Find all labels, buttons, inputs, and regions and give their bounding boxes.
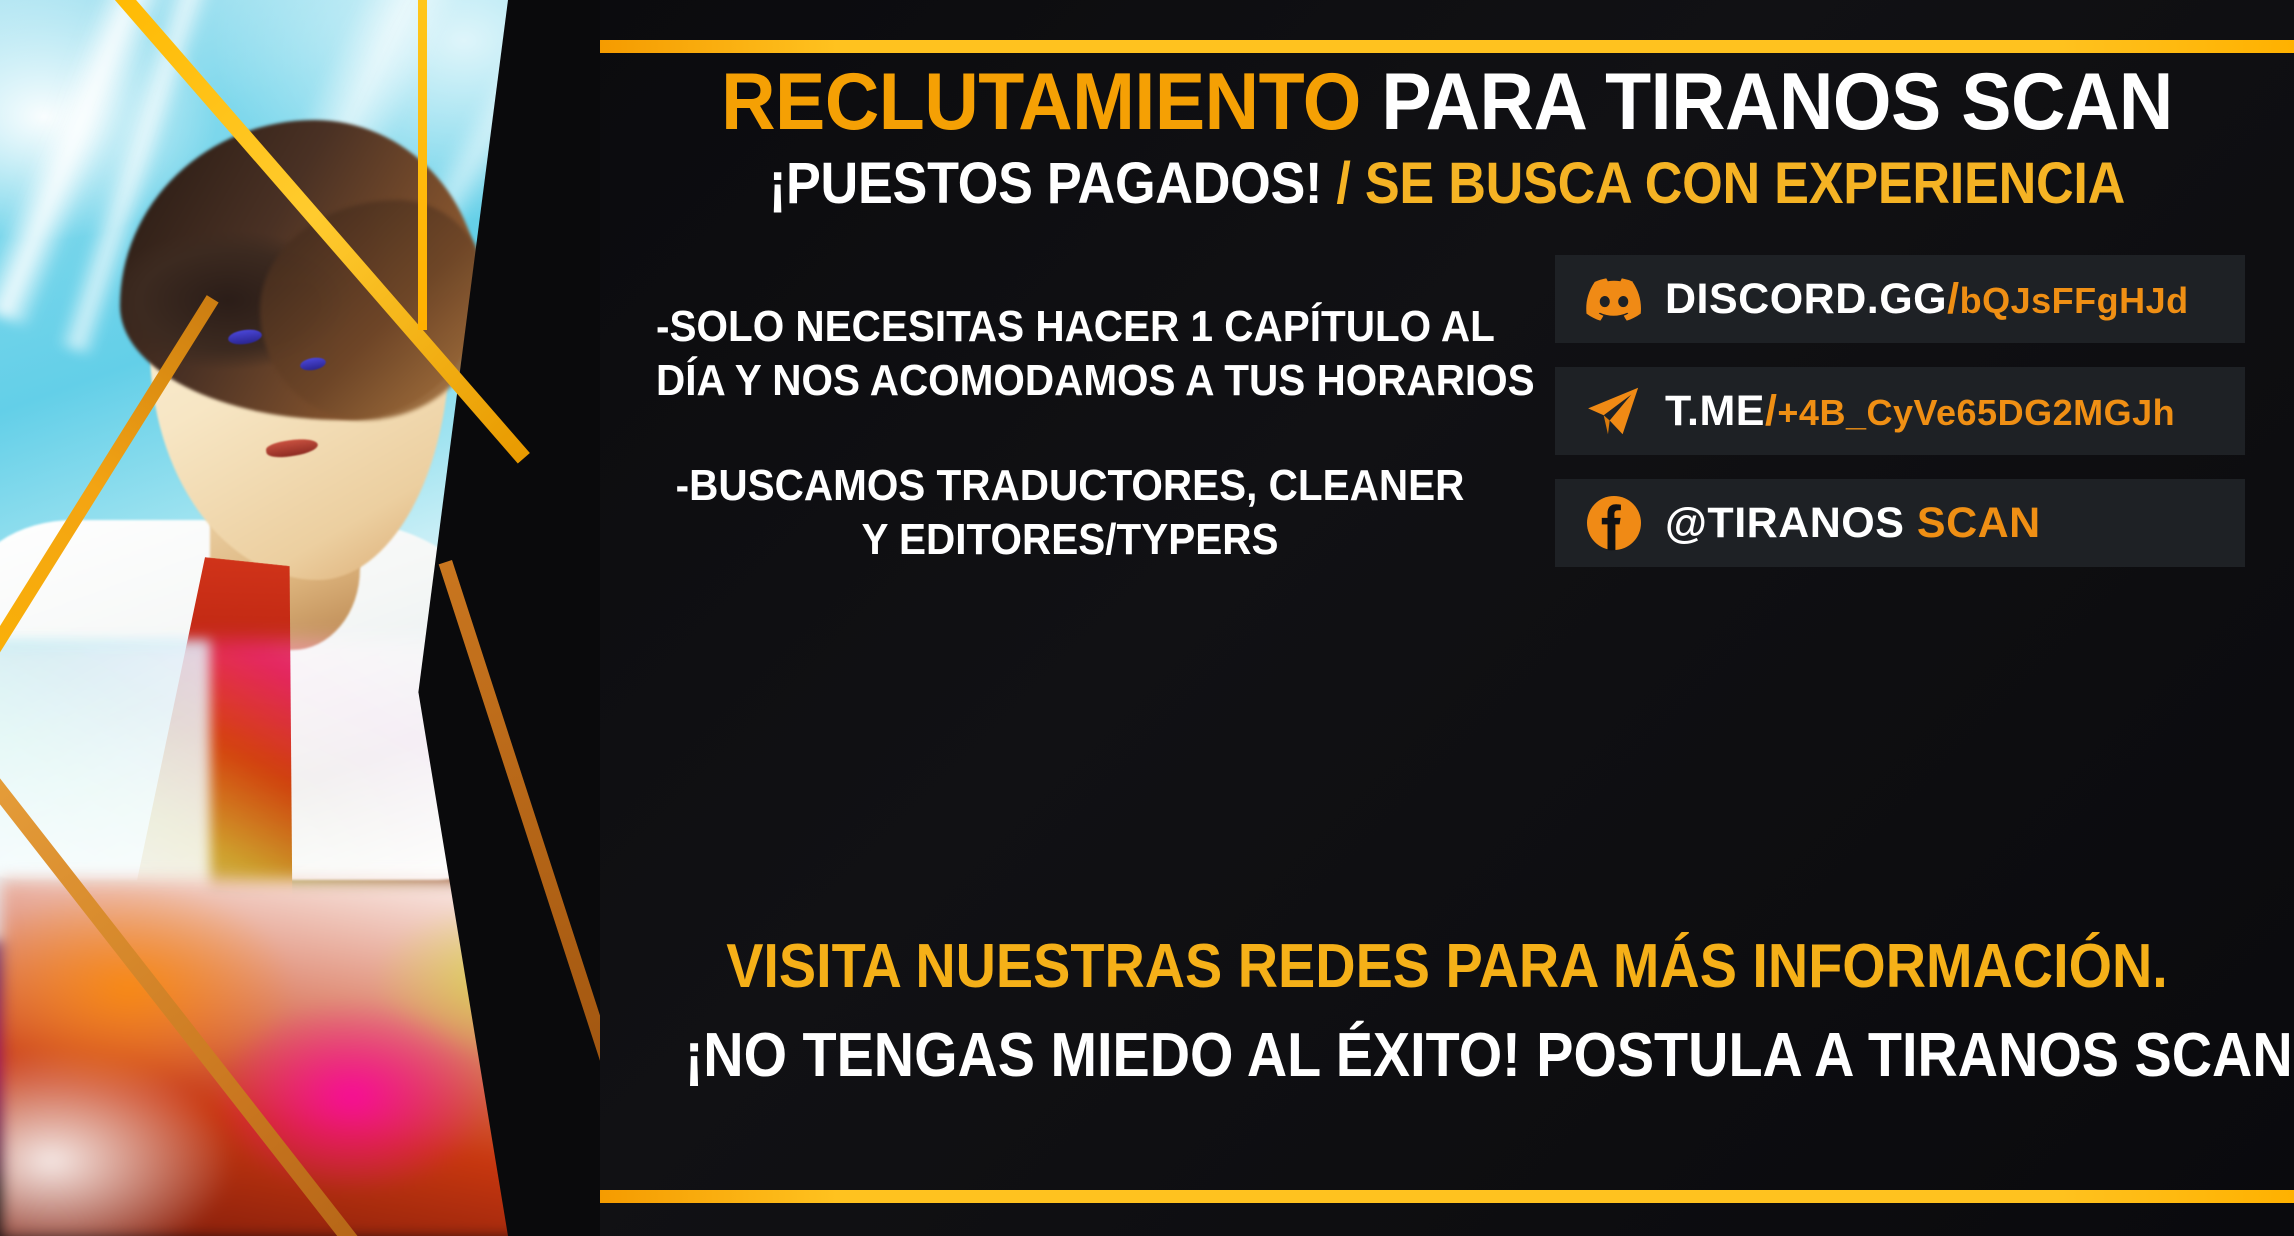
- telegram-invite-code: +4B_CyVe65DG2MGJh: [1777, 392, 2175, 433]
- telegram-separator: /: [1765, 387, 1777, 435]
- requirement-line: Y EDITORES/TYPERS: [656, 513, 1484, 567]
- headline-highlight: RECLUTAMIENTO: [721, 57, 1361, 147]
- gold-bar-top: [600, 40, 2294, 53]
- artwork-panel: [0, 0, 640, 1236]
- requirement-line: -SOLO NECESITAS HACER 1 CAPÍTULO AL: [656, 300, 1484, 354]
- headline: RECLUTAMIENTO PARA TIRANOS SCAN: [659, 62, 2234, 143]
- subheadline-experience: SE BUSCA CON EXPERIENCIA: [1365, 151, 2125, 216]
- requirement-item: -BUSCAMOS TRADUCTORES, CLEANER Y EDITORE…: [656, 459, 1484, 566]
- subheadline-paid: ¡PUESTOS PAGADOS!: [769, 151, 1322, 216]
- cta-line-1: VISITA NUESTRAS REDES PARA MÁS INFORMACI…: [685, 930, 2210, 1003]
- content-panel: RECLUTAMIENTO PARA TIRANOS SCAN ¡PUESTOS…: [600, 0, 2294, 1236]
- gold-vertical-divider: [418, 0, 427, 330]
- cta-line-2: ¡NO TENGAS MIEDO AL ÉXITO! POSTULA A TIR…: [685, 1019, 2210, 1092]
- discord-invite-code: bQJsFFgHJd: [1960, 280, 2189, 321]
- contact-card-telegram[interactable]: T.ME/+4B_CyVe65DG2MGJh: [1555, 367, 2245, 455]
- call-to-action: VISITA NUESTRAS REDES PARA MÁS INFORMACI…: [685, 930, 2210, 1092]
- facebook-handle: @TIRANOS: [1665, 499, 1904, 547]
- recruitment-banner: RECLUTAMIENTO PARA TIRANOS SCAN ¡PUESTOS…: [0, 0, 2294, 1236]
- telegram-icon: [1585, 382, 1643, 440]
- gold-bar-bottom: [600, 1190, 2294, 1203]
- requirement-item: -SOLO NECESITAS HACER 1 CAPÍTULO AL DÍA …: [656, 300, 1484, 407]
- discord-icon: [1585, 270, 1643, 328]
- contact-card-facebook[interactable]: @TIRANOS SCAN: [1555, 479, 2245, 567]
- contact-card-discord[interactable]: DISCORD.GG/bQJsFFgHJd: [1555, 255, 2245, 343]
- facebook-handle-suffix: SCAN: [1917, 499, 2041, 547]
- discord-domain: DISCORD.GG: [1665, 275, 1947, 323]
- subheadline-separator: /: [1336, 151, 1350, 216]
- contact-card-text: T.ME/+4B_CyVe65DG2MGJh: [1665, 387, 2175, 436]
- contact-card-text: @TIRANOS SCAN: [1665, 499, 2041, 548]
- discord-separator: /: [1947, 275, 1959, 323]
- requirement-line: -BUSCAMOS TRADUCTORES, CLEANER: [656, 459, 1484, 513]
- requirement-line: DÍA Y NOS ACOMODAMOS A TUS HORARIOS: [656, 354, 1484, 408]
- telegram-domain: T.ME: [1665, 387, 1765, 435]
- subheadline: ¡PUESTOS PAGADOS! / SE BUSCA CON EXPERIE…: [685, 155, 2210, 213]
- requirements-list: -SOLO NECESITAS HACER 1 CAPÍTULO AL DÍA …: [656, 300, 1484, 619]
- contact-card-list: DISCORD.GG/bQJsFFgHJd T.ME/+4B_CyVe65DG2…: [1555, 255, 2245, 591]
- headline-rest: PARA TIRANOS SCAN: [1381, 57, 2172, 147]
- contact-card-text: DISCORD.GG/bQJsFFgHJd: [1665, 275, 2189, 324]
- facebook-icon: [1585, 494, 1643, 552]
